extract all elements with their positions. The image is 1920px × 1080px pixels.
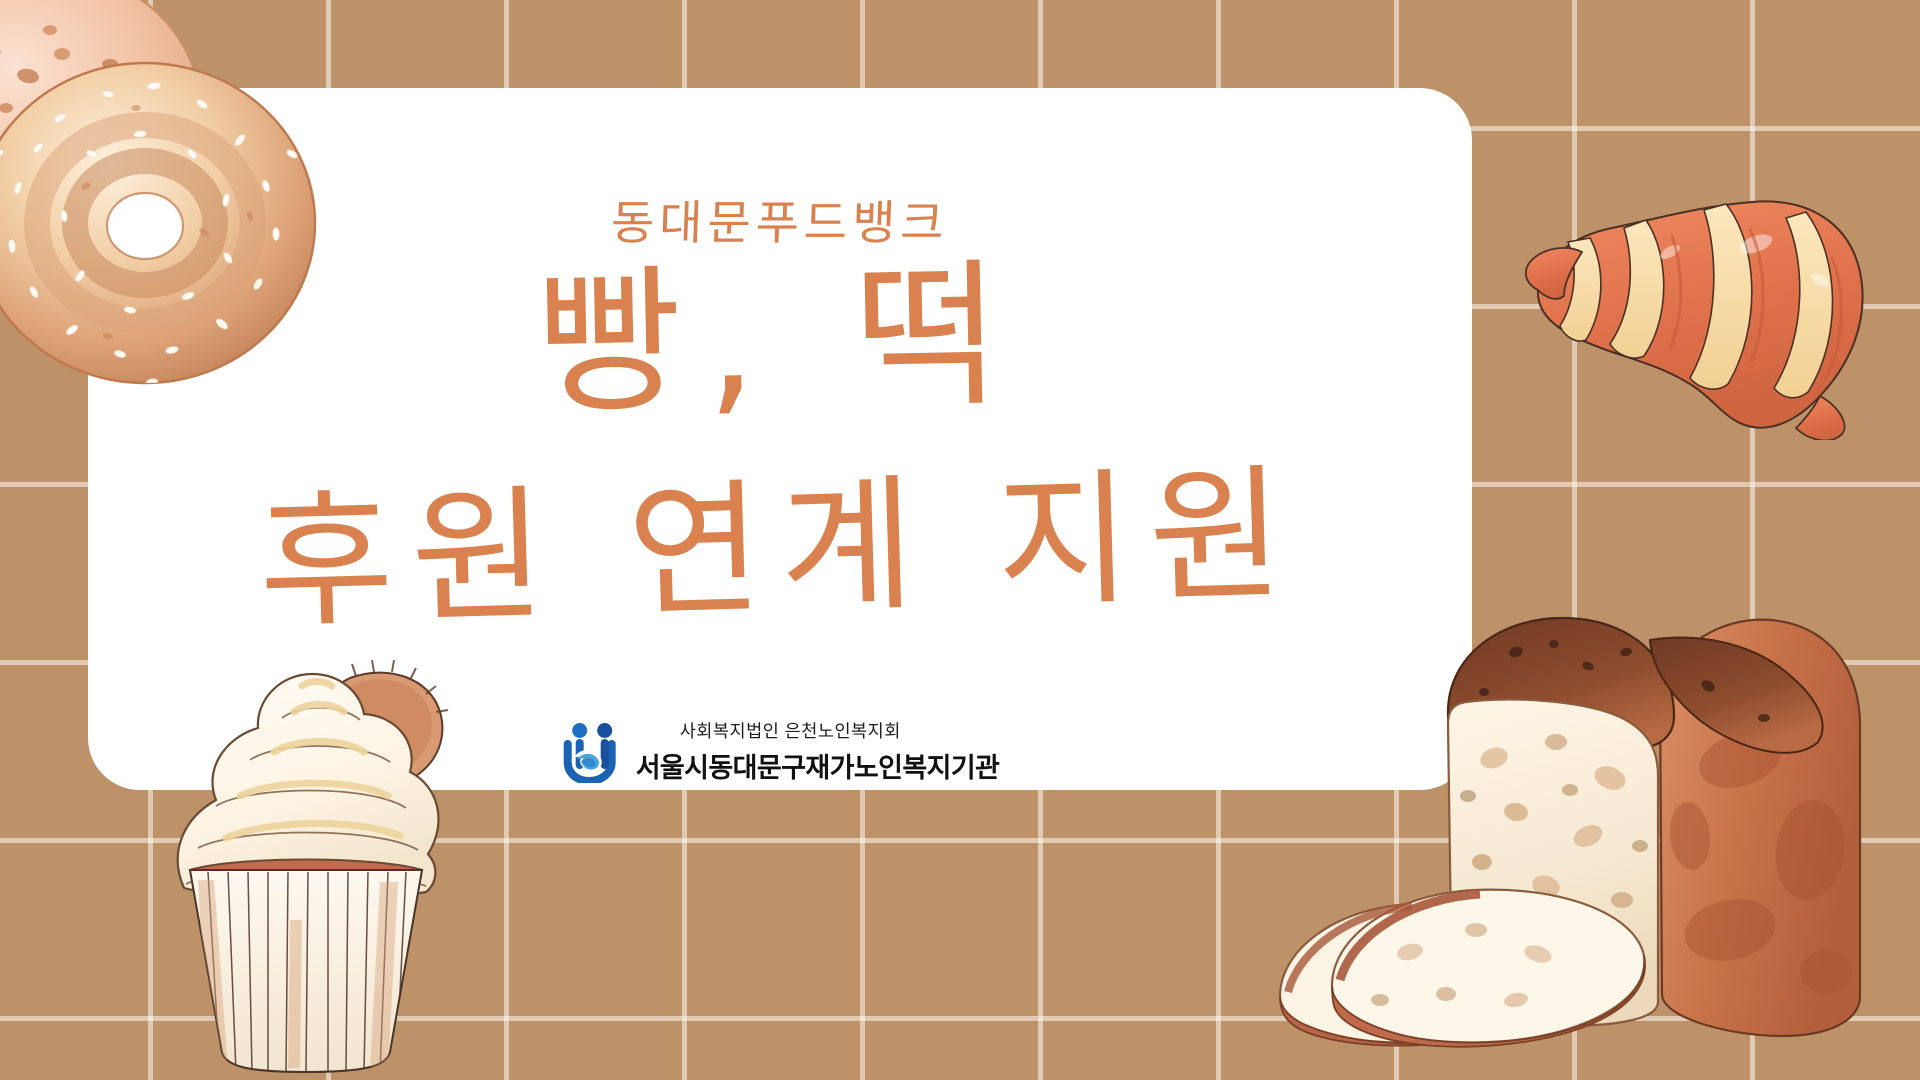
sesame-bagels-illustration <box>0 0 370 428</box>
croissant-illustration <box>1520 140 1920 440</box>
sliced-bread-loaf-illustration <box>1270 600 1920 1080</box>
cupcake-illustration <box>140 620 470 1080</box>
poster-canvas: 동대문푸드뱅크 빵, 떡 후원 연계 지원 사회복지법인 은천노인복지회 서울시… <box>0 0 1920 1080</box>
